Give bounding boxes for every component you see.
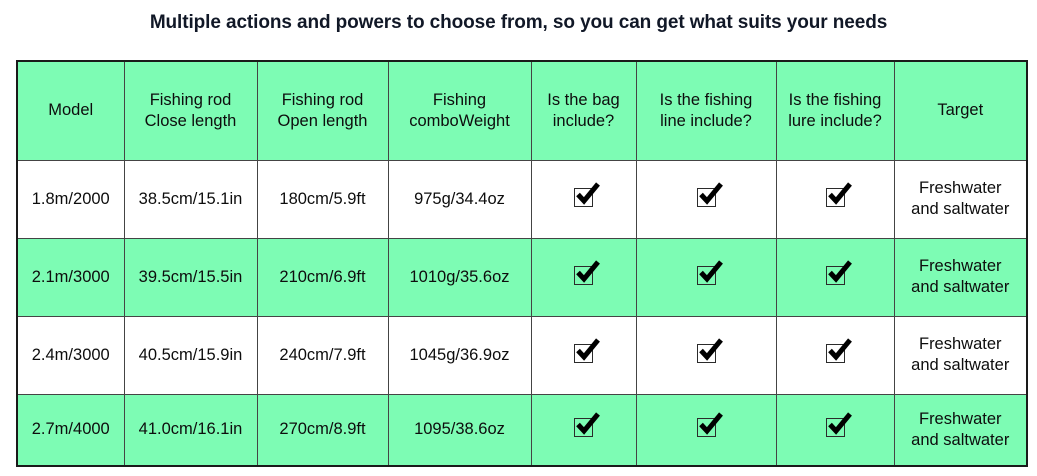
column-header-model: Model: [17, 61, 124, 160]
header-line-1: Fishing rod: [262, 90, 384, 111]
cell-open-length: 270cm/8.9ft: [257, 394, 388, 466]
table-row: 1.8m/2000 38.5cm/15.1in 180cm/5.9ft 975g…: [17, 160, 1027, 238]
target-line-1: Freshwater: [899, 256, 1023, 277]
cell-bag-included: [531, 238, 636, 316]
column-header-lure-included: Is the fishing lure include?: [776, 61, 894, 160]
cell-lure-included: [776, 316, 894, 394]
checkmark-icon: [574, 344, 593, 363]
checkmark-icon: [826, 188, 845, 207]
target-line-1: Freshwater: [899, 409, 1023, 430]
table-row: 2.1m/3000 39.5cm/15.5in 210cm/6.9ft 1010…: [17, 238, 1027, 316]
cell-model: 2.4m/3000: [17, 316, 124, 394]
header-line-1: Model: [22, 100, 120, 121]
cell-line-included: [636, 160, 776, 238]
header-line-2: Close length: [129, 111, 253, 132]
header-line-1: Target: [899, 100, 1023, 121]
page-title: Multiple actions and powers to choose fr…: [0, 0, 1037, 46]
cell-target: Freshwater and saltwater: [894, 316, 1027, 394]
table-header: Model Fishing rod Close length Fishing r…: [17, 61, 1027, 160]
target-line-2: and saltwater: [899, 355, 1023, 376]
header-line-2: Open length: [262, 111, 384, 132]
cell-lure-included: [776, 160, 894, 238]
cell-model: 2.7m/4000: [17, 394, 124, 466]
column-header-line-included: Is the fishing line include?: [636, 61, 776, 160]
cell-open-length: 240cm/7.9ft: [257, 316, 388, 394]
table-row: 2.7m/4000 41.0cm/16.1in 270cm/8.9ft 1095…: [17, 394, 1027, 466]
cell-lure-included: [776, 238, 894, 316]
cell-combo-weight: 975g/34.4oz: [388, 160, 531, 238]
cell-open-length: 180cm/5.9ft: [257, 160, 388, 238]
cell-bag-included: [531, 316, 636, 394]
cell-open-length: 210cm/6.9ft: [257, 238, 388, 316]
cell-target: Freshwater and saltwater: [894, 238, 1027, 316]
checkmark-icon: [574, 418, 593, 437]
table-body: 1.8m/2000 38.5cm/15.1in 180cm/5.9ft 975g…: [17, 160, 1027, 466]
checkmark-icon: [574, 266, 593, 285]
header-line-2: include?: [536, 111, 632, 132]
cell-line-included: [636, 316, 776, 394]
spec-table-container: Model Fishing rod Close length Fishing r…: [16, 60, 1026, 467]
cell-model: 1.8m/2000: [17, 160, 124, 238]
cell-close-length: 40.5cm/15.9in: [124, 316, 257, 394]
header-line-1: Fishing rod: [129, 90, 253, 111]
cell-line-included: [636, 394, 776, 466]
checkmark-icon: [826, 418, 845, 437]
product-spec-table: Model Fishing rod Close length Fishing r…: [16, 60, 1028, 467]
target-line-1: Freshwater: [899, 178, 1023, 199]
cell-close-length: 38.5cm/15.1in: [124, 160, 257, 238]
table-row: 2.4m/3000 40.5cm/15.9in 240cm/7.9ft 1045…: [17, 316, 1027, 394]
cell-line-included: [636, 238, 776, 316]
column-header-bag-included: Is the bag include?: [531, 61, 636, 160]
cell-close-length: 41.0cm/16.1in: [124, 394, 257, 466]
header-row: Model Fishing rod Close length Fishing r…: [17, 61, 1027, 160]
checkmark-icon: [697, 266, 716, 285]
column-header-open-length: Fishing rod Open length: [257, 61, 388, 160]
cell-combo-weight: 1045g/36.9oz: [388, 316, 531, 394]
target-line-2: and saltwater: [899, 430, 1023, 451]
checkmark-icon: [826, 344, 845, 363]
column-header-combo-weight: Fishing comboWeight: [388, 61, 531, 160]
column-header-close-length: Fishing rod Close length: [124, 61, 257, 160]
cell-target: Freshwater and saltwater: [894, 160, 1027, 238]
header-line-1: Is the fishing: [641, 90, 772, 111]
cell-bag-included: [531, 160, 636, 238]
cell-target: Freshwater and saltwater: [894, 394, 1027, 466]
cell-combo-weight: 1095/38.6oz: [388, 394, 531, 466]
checkmark-icon: [574, 188, 593, 207]
cell-lure-included: [776, 394, 894, 466]
header-line-1: Is the bag: [536, 90, 632, 111]
cell-close-length: 39.5cm/15.5in: [124, 238, 257, 316]
header-line-2: line include?: [641, 111, 772, 132]
target-line-2: and saltwater: [899, 199, 1023, 220]
header-line-1: Fishing: [393, 90, 527, 111]
checkmark-icon: [697, 418, 716, 437]
target-line-2: and saltwater: [899, 277, 1023, 298]
header-line-1: Is the fishing: [781, 90, 890, 111]
column-header-target: Target: [894, 61, 1027, 160]
checkmark-icon: [697, 188, 716, 207]
header-line-2: lure include?: [781, 111, 890, 132]
cell-combo-weight: 1010g/35.6oz: [388, 238, 531, 316]
target-line-1: Freshwater: [899, 334, 1023, 355]
checkmark-icon: [826, 266, 845, 285]
cell-model: 2.1m/3000: [17, 238, 124, 316]
cell-bag-included: [531, 394, 636, 466]
checkmark-icon: [697, 344, 716, 363]
header-line-2: comboWeight: [393, 111, 527, 132]
